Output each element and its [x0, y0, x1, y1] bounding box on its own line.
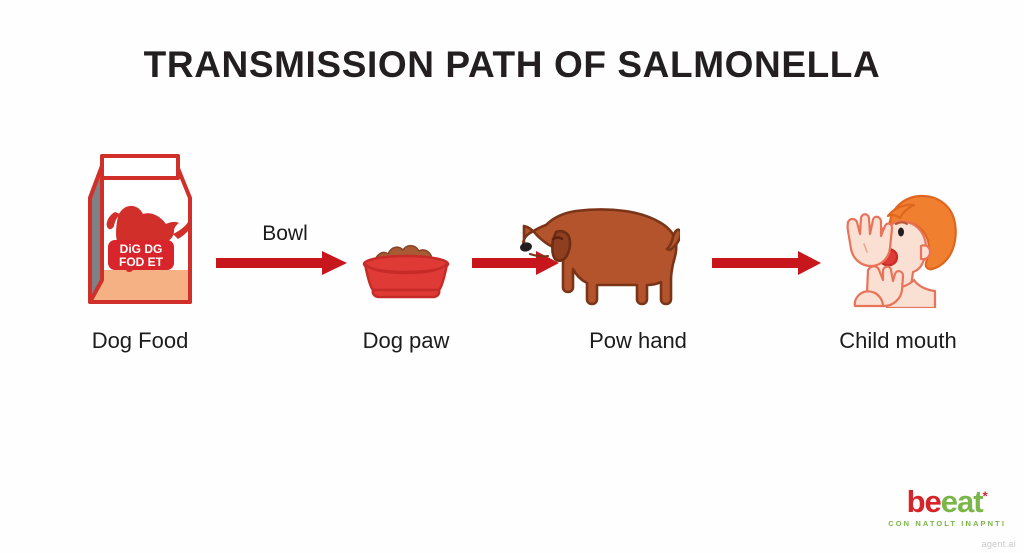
watermark: agent.ai: [982, 539, 1016, 549]
caption-child-mouth: Child mouth: [798, 328, 998, 354]
infographic-canvas: TRANSMISSION PATH OF SALMONELLA DiG DG F…: [0, 0, 1024, 553]
step-dog-paw: [352, 238, 460, 302]
caption-pow-hand: Pow hand: [538, 328, 738, 354]
child-hand-to-mouth-icon: [828, 188, 963, 308]
dog-icon: [510, 198, 680, 308]
page-title: TRANSMISSION PATH OF SALMONELLA: [0, 44, 1024, 86]
arrow-1-label: Bowl: [215, 222, 355, 246]
step-dog-food: DiG DG FOD ET: [72, 150, 207, 315]
logo-word-eat: eat: [941, 484, 983, 519]
logo-star-icon: *: [983, 489, 988, 504]
caption-dog-paw: Dog paw: [306, 328, 506, 354]
step-pow-hand: [510, 198, 680, 308]
caption-dog-food: Dog Food: [40, 328, 240, 354]
dog-bowl-icon: [352, 238, 460, 302]
step-child-mouth: [828, 188, 963, 308]
arrow-1: [216, 250, 348, 281]
dog-food-bag-icon: DiG DG FOD ET: [72, 150, 207, 315]
logo-tagline: CON NATOLT INAPNTI: [888, 519, 1006, 528]
bag-label-line1: DiG DG: [120, 242, 163, 256]
bag-label-line2: FOD ET: [119, 255, 164, 269]
arrow-3: [712, 250, 822, 281]
brand-logo: beeat* CON NATOLT INAPNTI: [888, 486, 1006, 528]
logo-wordmark: beeat*: [888, 486, 1006, 517]
logo-word-be: be: [907, 484, 941, 519]
